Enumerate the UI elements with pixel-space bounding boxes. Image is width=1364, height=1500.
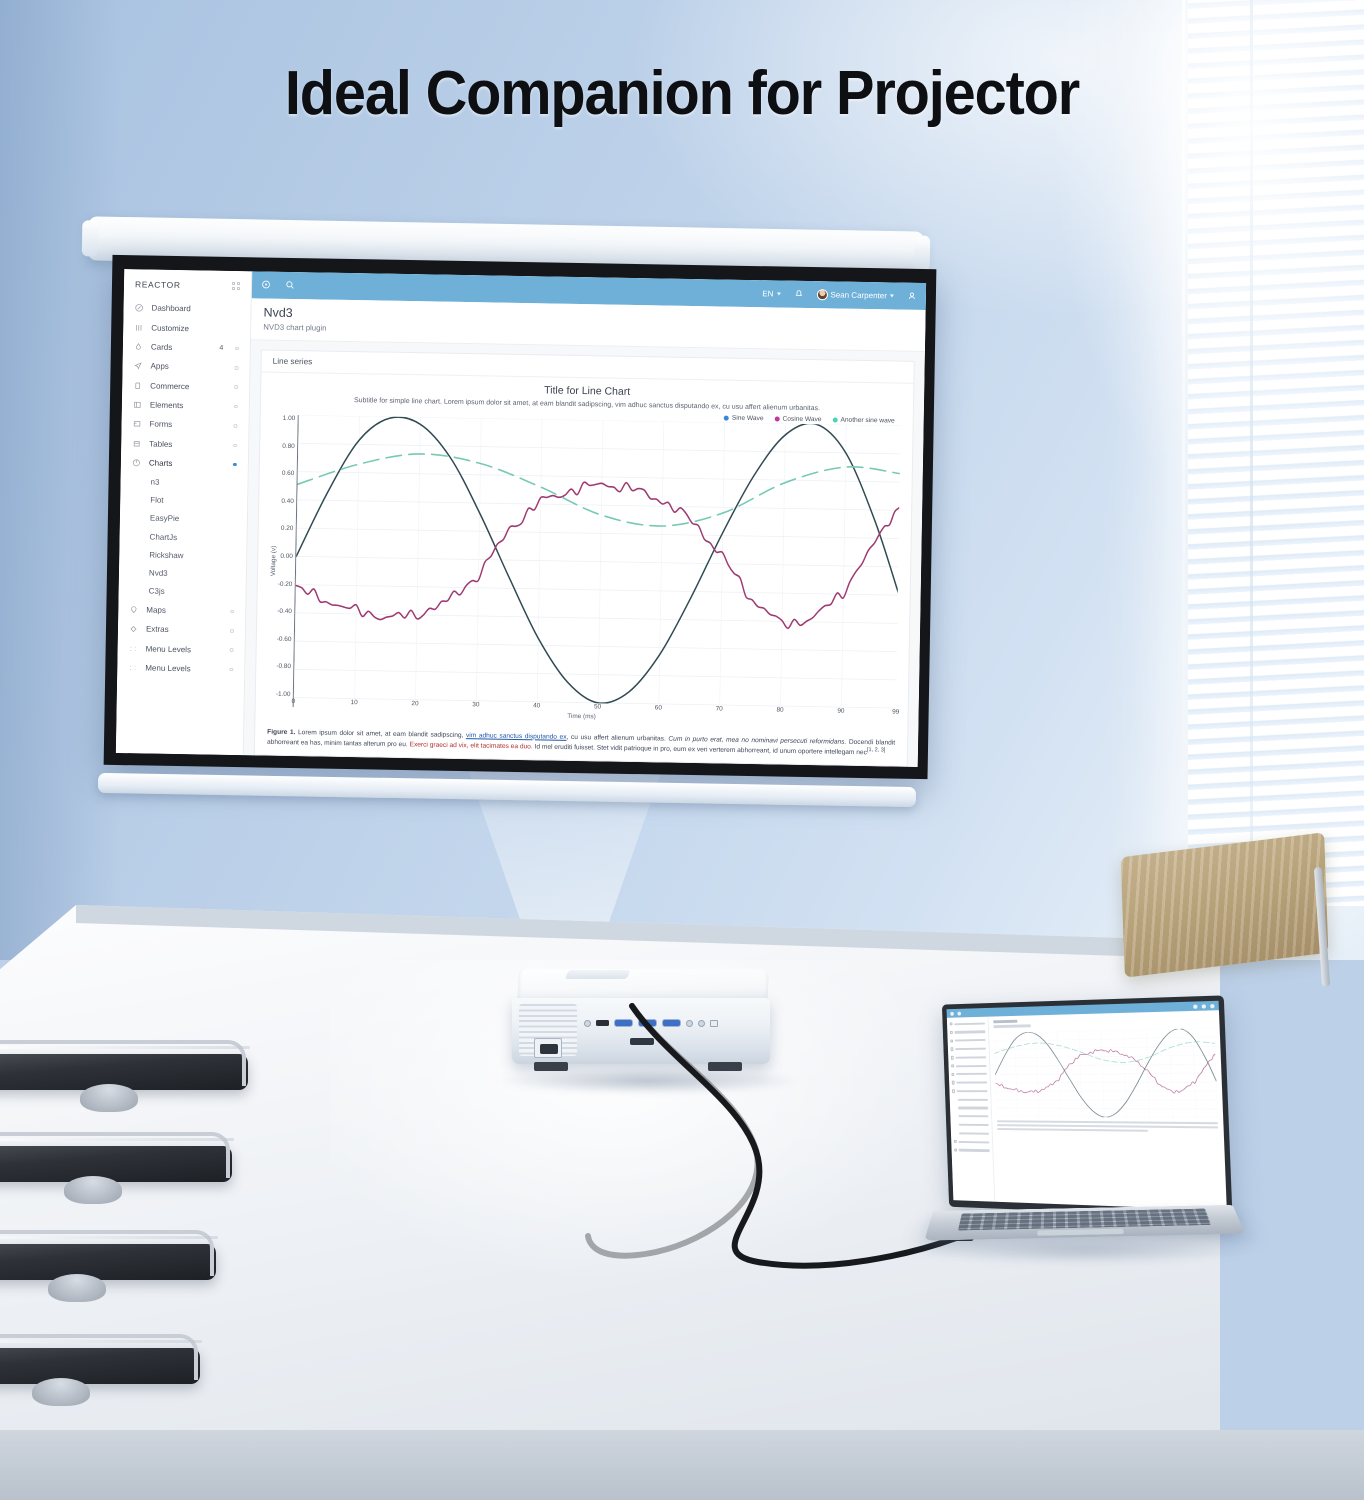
mini-chart <box>994 1028 1218 1118</box>
x-tick: 99 <box>892 708 899 715</box>
plot-wrapper: Voltage (v) 1.000.800.600.400.200.00-0.2… <box>268 415 901 717</box>
mini-nav-row <box>953 1105 989 1110</box>
y-tick: 1.00 <box>281 415 296 422</box>
chair-frame <box>0 1040 246 1086</box>
sidebar-item-label: Cards <box>151 342 212 352</box>
mini-caption <box>997 1120 1219 1133</box>
sidebar-item-label: Menu Levels <box>145 663 222 673</box>
mini-bell-icon <box>1202 1004 1206 1008</box>
y-tick: 0.80 <box>280 443 295 450</box>
y-tick: 0.20 <box>279 525 294 532</box>
laptop-base <box>924 1205 1245 1241</box>
chevron-down-icon <box>890 294 894 297</box>
sidebar-item-label: Apps <box>150 362 227 372</box>
screen-frame: REACTOR Dashboard Customize <box>104 255 937 779</box>
bell-icon[interactable] <box>793 288 803 300</box>
sliders-icon <box>134 323 143 332</box>
projector-foot-right <box>708 1062 742 1071</box>
screen-surface: REACTOR Dashboard Customize <box>116 269 926 767</box>
legend-item-cosine-wave[interactable]: Cosine Wave <box>774 416 821 424</box>
caption-text-4: Id mel eruditi fuisset. Stet vidit patri… <box>533 744 867 757</box>
hdmi-port <box>596 1020 609 1026</box>
chair-frame <box>0 1230 214 1276</box>
wall-corner <box>1182 0 1185 905</box>
content-area: EN Sean Carpenter <box>244 271 926 767</box>
mini-page-subtitle <box>993 1025 1030 1028</box>
sidebar-item-charts[interactable]: Charts <box>121 453 248 475</box>
x-tick: 60 <box>655 704 662 711</box>
map-pin-icon <box>129 605 138 614</box>
sidebar-badge-cards: 4 <box>219 345 223 352</box>
sidebar-item-cards[interactable]: Cards 4 <box>123 337 250 359</box>
caption-text-2: , cu usu affert alienum urbanitas. <box>566 734 668 743</box>
mini-nav-row <box>954 1131 990 1137</box>
laptop-shadow <box>926 1238 1246 1264</box>
laptop-screen <box>947 1001 1227 1211</box>
x-tick: 40 <box>533 702 540 709</box>
page-title: Ideal Companion for Projector <box>48 58 1317 129</box>
sidebar-subitem-easypie[interactable]: EasyPie <box>120 509 247 529</box>
user-icon[interactable] <box>907 290 917 302</box>
mini-topbar-right <box>1193 1004 1214 1009</box>
sidebar-item-label: Commerce <box>150 381 227 391</box>
sidebar-dot <box>230 668 234 672</box>
chair <box>0 1334 212 1396</box>
sidebar-item-tables[interactable]: Tables <box>121 434 248 456</box>
table-icon <box>132 439 141 448</box>
chair <box>0 1040 260 1102</box>
y-tick: 0.40 <box>279 498 294 505</box>
wood-grain <box>1121 832 1329 977</box>
mini-nav-row <box>952 1097 988 1102</box>
mini-nav-row <box>951 1046 986 1052</box>
keyboard[interactable] <box>958 1209 1211 1231</box>
chevron-down-icon <box>776 292 780 295</box>
dashboard-app: REACTOR Dashboard Customize <box>116 269 926 767</box>
user-name: Sean Carpenter <box>830 290 887 300</box>
grid-icon[interactable] <box>232 282 240 290</box>
caption-link[interactable]: vim adhuc sanctus disputando ex <box>466 732 567 741</box>
sidebar-dot <box>230 629 234 633</box>
avatar <box>816 289 827 300</box>
trackpad[interactable] <box>1037 1229 1124 1236</box>
sidebar-brand-row: REACTOR <box>124 276 251 300</box>
screen-bottom-bar <box>98 773 916 807</box>
sidebar-item-label: Tables <box>149 439 226 449</box>
mini-search-icon <box>957 1011 961 1015</box>
roller-cap-left <box>82 220 99 256</box>
mini-sidebar <box>947 1017 995 1202</box>
audio-port <box>584 1020 591 1027</box>
drop-icon <box>134 342 143 351</box>
sidebar-subitem-chartjs[interactable]: ChartJs <box>119 527 246 547</box>
legend-label: Sine Wave <box>732 415 764 423</box>
mini-language <box>1193 1004 1197 1008</box>
tag-icon <box>129 624 138 633</box>
mini-chart-svg <box>994 1028 1218 1118</box>
mini-target-icon <box>950 1011 954 1015</box>
sidebar-dot <box>230 648 234 652</box>
sidebar-item-forms[interactable]: Forms <box>121 414 248 436</box>
x-tick: 20 <box>411 700 418 707</box>
y-tick: -0.20 <box>278 580 293 587</box>
sidebar-item-maps[interactable]: Maps <box>118 600 245 622</box>
topbar-right-group: EN Sean Carpenter <box>762 288 917 303</box>
caption-text-1: Lorem ipsum dolor sit amet, at eam bland… <box>295 729 466 739</box>
sidebar-item-label: Maps <box>146 605 223 615</box>
user-menu[interactable]: Sean Carpenter <box>816 289 894 301</box>
roller-cap-right <box>914 235 931 271</box>
language-label: EN <box>762 289 773 298</box>
sidebar-item-label: Forms <box>149 420 226 430</box>
sidebar-item-label: Charts <box>149 459 226 469</box>
sidebar-subitem-rickshaw[interactable]: Rickshaw <box>119 545 246 565</box>
figure-label: Figure 1. <box>267 728 295 735</box>
power-indicator <box>698 1020 705 1027</box>
sidebar-dot <box>235 366 239 370</box>
bag-icon <box>133 381 142 390</box>
x-tick: 90 <box>837 707 844 714</box>
floor <box>0 1430 1364 1500</box>
chair-frame <box>0 1132 230 1178</box>
projector <box>512 968 774 1080</box>
x-tick: 50 <box>594 703 601 710</box>
form-icon <box>132 420 141 429</box>
caption-italic-1: Cum in purto erat, mea no nominavi perse… <box>668 735 846 745</box>
chart-icon <box>132 458 141 467</box>
caption-highlight: Exerci graeci ad vix, elit tacimates ea … <box>410 742 533 751</box>
projector-io-panel <box>584 1008 762 1038</box>
sidebar-item-label: Extras <box>146 625 223 635</box>
y-tick: -1.00 <box>276 690 291 697</box>
sidebar-item-elements[interactable]: Elements <box>122 395 249 417</box>
sidebar-item-label: Customize <box>151 323 239 334</box>
mini-nav-row <box>954 1147 990 1153</box>
sidebar-subitem-n3[interactable]: n3 <box>120 472 247 492</box>
search-icon[interactable] <box>285 279 295 291</box>
sidebar-dot <box>234 405 238 409</box>
svideo-port <box>686 1020 693 1027</box>
sidebar-item-dashboard[interactable]: Dashboard <box>123 298 250 320</box>
window-blinds <box>1188 0 1364 906</box>
topbar-left-icons <box>261 279 295 292</box>
mini-nav-row <box>953 1122 989 1128</box>
y-tick: 0.00 <box>278 553 293 560</box>
projector-body <box>512 998 770 1064</box>
caption-superscript: [1, 2, 3] <box>867 747 885 753</box>
mini-nav-row <box>952 1088 988 1093</box>
sidebar-dot <box>235 347 239 351</box>
legend-swatch <box>832 418 837 423</box>
sidebar-item-menu-levels-1[interactable]: Menu Levels <box>117 638 244 660</box>
projector-foot-left <box>534 1062 568 1071</box>
sidebar-dot <box>235 385 239 389</box>
x-tick: 80 <box>776 706 783 713</box>
chart-panel: Line series Title for Line Chart Subtitl… <box>254 350 915 767</box>
sidebar-dot-active <box>233 463 237 467</box>
language-selector[interactable]: EN <box>762 289 780 298</box>
mini-body <box>947 1010 1227 1210</box>
projector-shadow <box>498 1068 798 1094</box>
sidebar-dot <box>234 444 238 448</box>
chair-pedestal <box>80 1084 138 1112</box>
mini-content <box>988 1010 1226 1210</box>
blind-cord <box>1250 0 1253 899</box>
mini-page-title <box>993 1020 1017 1024</box>
y-tick: -0.40 <box>277 608 292 615</box>
layout-icon <box>133 400 142 409</box>
chair-pedestal <box>64 1176 122 1204</box>
dots-icon <box>128 663 137 672</box>
chair <box>0 1230 228 1292</box>
sidebar-item-apps[interactable]: Apps <box>122 356 249 378</box>
y-axis-label: Voltage (v) <box>270 545 278 576</box>
sidebar-item-extras[interactable]: Extras <box>118 619 245 641</box>
vga-port <box>638 1019 657 1027</box>
mini-nav-row <box>952 1080 988 1085</box>
dots-icon <box>129 644 138 653</box>
legend-label: Another sine wave <box>840 417 894 425</box>
laptop-lid <box>942 995 1233 1218</box>
chair-pedestal <box>32 1378 90 1406</box>
chair-pedestal <box>48 1274 106 1302</box>
sidebar-item-label: Elements <box>150 401 227 411</box>
mini-nav-row <box>950 1038 985 1044</box>
sidebar-item-customize[interactable]: Customize <box>123 317 250 339</box>
mini-nav-row <box>953 1114 989 1119</box>
chart-svg <box>293 415 900 708</box>
chair-frame <box>0 1334 198 1380</box>
chair-backrest <box>1121 832 1329 977</box>
plot-area: 010203040506070809099 <box>292 415 900 717</box>
x-tick: 10 <box>351 699 358 706</box>
mini-nav-row <box>951 1055 987 1061</box>
serial-port <box>630 1038 654 1045</box>
projector-lens-cover <box>565 970 631 979</box>
window <box>1188 0 1364 906</box>
sidebar-dot <box>231 610 235 614</box>
mini-nav-row <box>954 1139 990 1145</box>
laptop <box>930 1000 1240 1265</box>
x-tick: 0 <box>291 698 295 705</box>
legend-label: Cosine Wave <box>782 416 821 424</box>
mini-nav-row <box>951 1072 987 1077</box>
mini-nav-row <box>951 1063 987 1069</box>
y-tick: 0.60 <box>280 470 295 477</box>
x-tick: 70 <box>716 705 723 712</box>
y-tick: -0.60 <box>277 635 292 642</box>
mini-nav-row <box>950 1029 985 1035</box>
sidebar-item-label: Menu Levels <box>146 644 223 654</box>
sidebar-item-menu-levels-2[interactable]: Menu Levels <box>117 658 244 680</box>
usb-port <box>710 1020 718 1027</box>
target-icon[interactable] <box>261 279 271 291</box>
legend-swatch <box>724 416 729 421</box>
room-scene: Ideal Companion for Projector REACTOR <box>0 0 1364 1500</box>
sidebar: REACTOR Dashboard Customize <box>116 269 252 755</box>
dashboard-icon <box>135 303 144 312</box>
legend-item-another-sine-wave[interactable]: Another sine wave <box>832 417 894 425</box>
x-tick: 30 <box>472 701 479 708</box>
sidebar-item-label: Dashboard <box>152 304 240 315</box>
power-socket <box>534 1038 562 1058</box>
panel-body: Title for Line Chart Subtitle for simple… <box>255 373 913 734</box>
vga-port <box>662 1019 681 1027</box>
sidebar-subitem-flot[interactable]: Flot <box>120 491 247 511</box>
brand-logo[interactable]: REACTOR <box>135 279 181 290</box>
sidebar-item-commerce[interactable]: Commerce <box>122 376 249 398</box>
legend-swatch <box>774 417 779 422</box>
sidebar-subitem-nvd3[interactable]: Nvd3 <box>119 563 246 583</box>
mini-avatar <box>1210 1004 1214 1008</box>
y-tick: -0.80 <box>276 663 291 670</box>
vga-port <box>614 1019 633 1027</box>
sidebar-subitem-c3js[interactable]: C3js <box>118 582 245 602</box>
sidebar-dot <box>234 424 238 428</box>
projection-screen: REACTOR Dashboard Customize <box>88 224 946 836</box>
mini-nav-row <box>950 1021 985 1027</box>
send-icon <box>133 362 142 371</box>
legend-item-sine-wave[interactable]: Sine Wave <box>724 415 764 423</box>
chair <box>0 1132 244 1194</box>
